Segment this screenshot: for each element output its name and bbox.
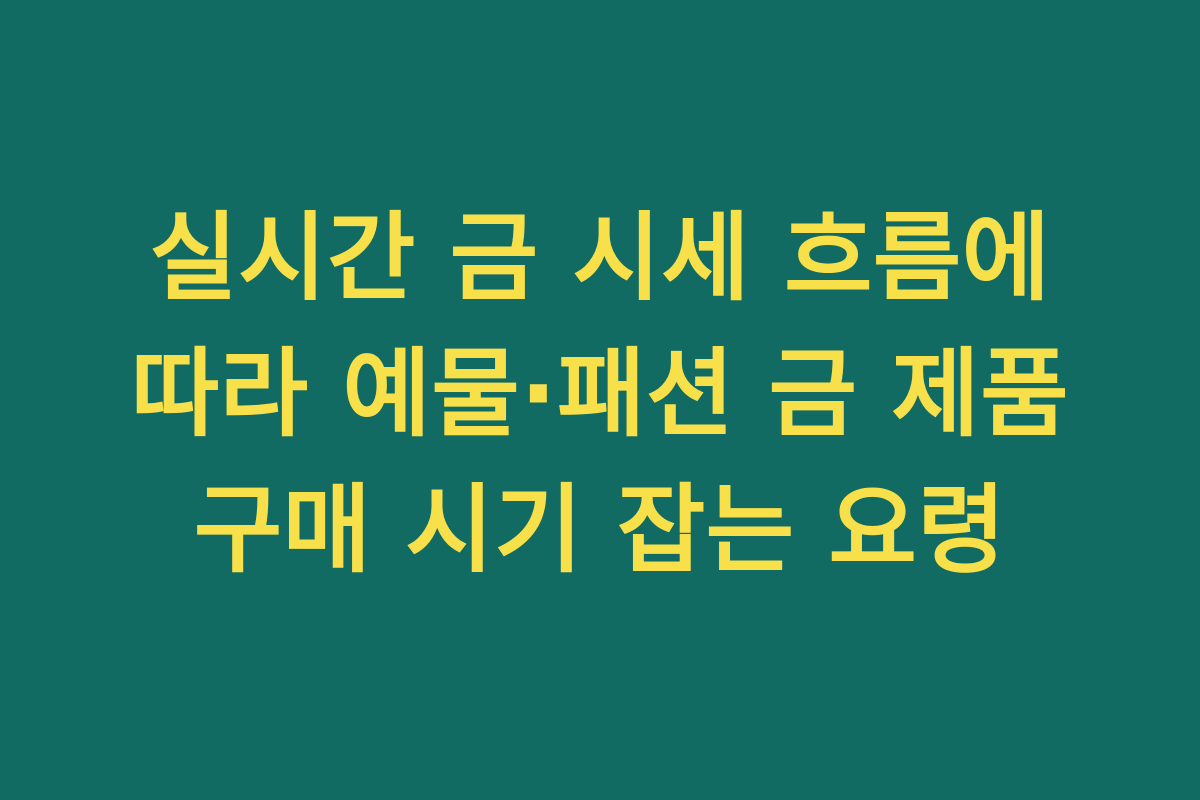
headline-line-2: 따라 예물·패션 금 제품 — [40, 326, 1160, 462]
headline-line-3: 구매 시기 잡는 요령 — [40, 462, 1160, 598]
title-card: 실시간 금 시세 흐름에 따라 예물·패션 금 제품 구매 시기 잡는 요령 — [0, 0, 1200, 800]
headline-line-1: 실시간 금 시세 흐름에 — [40, 190, 1160, 326]
headline-block: 실시간 금 시세 흐름에 따라 예물·패션 금 제품 구매 시기 잡는 요령 — [0, 190, 1200, 598]
